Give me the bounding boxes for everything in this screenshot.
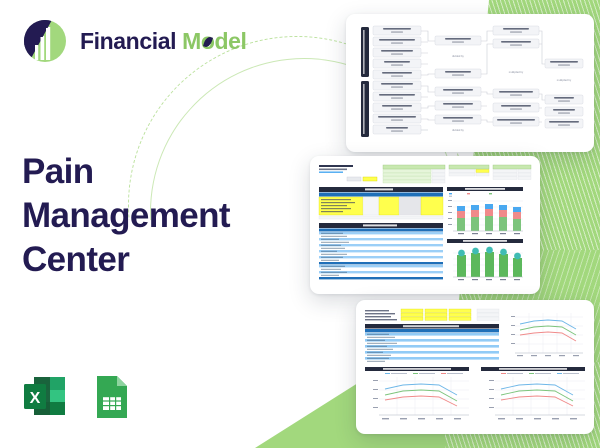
brand-wordmark: Financial Model	[80, 28, 247, 55]
brand-logo: Financial Model	[22, 18, 247, 64]
poster-canvas: Financial Model Pain Management Center X	[0, 0, 600, 448]
title-line-2: Management	[22, 194, 292, 238]
brand-name-secondary-o: o	[201, 28, 215, 55]
projections-preview	[363, 307, 587, 427]
svg-text:multiplied by: multiplied by	[509, 70, 524, 74]
svg-text:multiplied by: multiplied by	[557, 78, 572, 82]
projections-card[interactable]	[356, 300, 594, 434]
dupont-diagram: divided by divided by multip	[353, 21, 587, 145]
brand-name-secondary-m: M	[182, 28, 201, 54]
financial-model-logo-icon	[22, 18, 68, 64]
dashboard-card-content	[317, 163, 533, 287]
dupont-card-content: divided by divided by multip	[353, 21, 587, 145]
svg-text:X: X	[30, 390, 41, 407]
google-sheets-icon[interactable]	[86, 372, 136, 422]
dupont-analysis-card[interactable]: divided by divided by multip	[346, 14, 594, 152]
svg-text:divided by: divided by	[452, 54, 464, 58]
brand-name-secondary-rest: del	[215, 28, 247, 54]
dashboard-preview	[317, 163, 533, 287]
projections-card-content	[363, 307, 587, 427]
svg-text:divided by: divided by	[452, 128, 464, 132]
brand-name-primary: Financial	[80, 28, 176, 54]
title-line-1: Pain	[22, 150, 292, 194]
file-format-icons: X	[20, 372, 136, 422]
financial-dashboard-card[interactable]	[310, 156, 540, 294]
page-title: Pain Management Center	[22, 150, 292, 282]
microsoft-excel-icon[interactable]: X	[20, 372, 70, 422]
title-line-3: Center	[22, 238, 292, 282]
